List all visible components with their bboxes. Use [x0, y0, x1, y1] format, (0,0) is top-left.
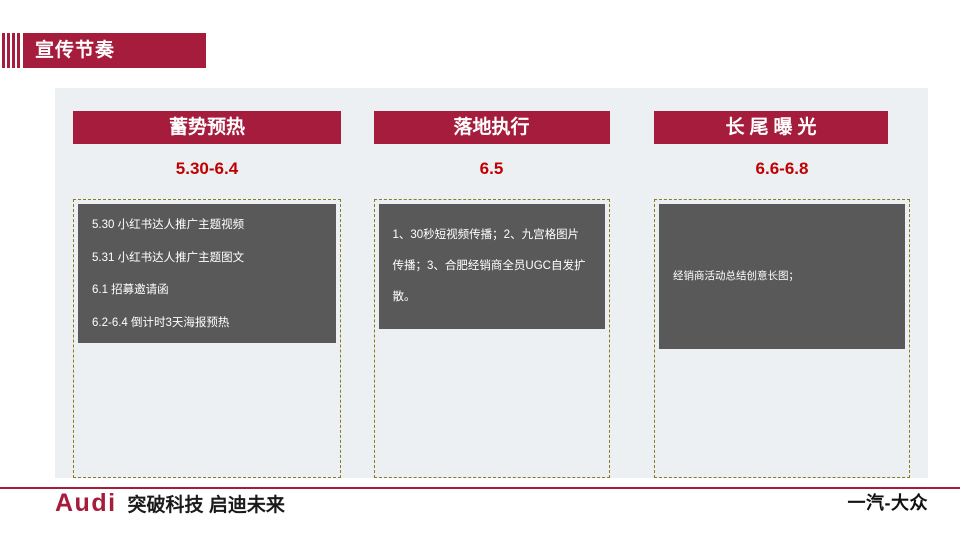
- phase-title-1: 蓄势预热: [73, 111, 341, 144]
- phase-dashed-box-3: 经销商活动总结创意长图；: [654, 199, 910, 478]
- centered-text: 经销商活动总结创意长图；: [673, 269, 799, 284]
- list-item: 6.2-6.4 倒计时3天海报预热: [92, 318, 322, 330]
- phase-column-1: 蓄势预热 5.30-6.4 5.30 小红书达人推广主题视频 5.31 小红书达…: [73, 88, 341, 478]
- phase-content-box-1: 5.30 小红书达人推广主题视频 5.31 小红书达人推广主题图文 6.1 招募…: [78, 204, 336, 343]
- slide-header: 宣传节奏: [0, 33, 206, 68]
- phase-content-box-3: 经销商活动总结创意长图；: [659, 204, 905, 349]
- header-banner: 宣传节奏: [23, 33, 206, 68]
- phase-columns: 蓄势预热 5.30-6.4 5.30 小红书达人推广主题视频 5.31 小红书达…: [55, 88, 928, 478]
- audi-wordmark: Audi: [55, 491, 117, 516]
- page-title: 宣传节奏: [35, 41, 115, 60]
- paragraph-text: 1、30秒短视频传播；2、九宫格图片传播；3、合肥经销商全员UGC自发扩散。: [393, 220, 591, 313]
- phase-column-2: 落地执行 6.5 1、30秒短视频传播；2、九宫格图片传播；3、合肥经销商全员U…: [358, 88, 626, 478]
- list-item: 6.1 招募邀请函: [92, 285, 322, 297]
- content-panel: 蓄势预热 5.30-6.4 5.30 小红书达人推广主题视频 5.31 小红书达…: [55, 88, 928, 478]
- phase-dashed-box-2: 1、30秒短视频传播；2、九宫格图片传播；3、合肥经销商全员UGC自发扩散。: [374, 199, 610, 478]
- phase-date-2: 6.5: [374, 160, 610, 177]
- audi-tagline: 突破科技 启迪未来: [128, 496, 285, 515]
- phase-column-3: 长尾曝光 6.6-6.8 经销商活动总结创意长图；: [642, 88, 910, 478]
- phase-content-box-2: 1、30秒短视频传播；2、九宫格图片传播；3、合肥经销商全员UGC自发扩散。: [379, 204, 605, 329]
- phase-date-3: 6.6-6.8: [654, 160, 910, 177]
- phase-title-3: 长尾曝光: [654, 111, 888, 144]
- phase-title-2: 落地执行: [374, 111, 610, 144]
- list-item: 5.30 小红书达人推广主题视频: [92, 220, 322, 232]
- phase-dashed-box-1: 5.30 小红书达人推广主题视频 5.31 小红书达人推广主题图文 6.1 招募…: [73, 199, 341, 478]
- phase-date-1: 5.30-6.4: [73, 160, 341, 177]
- list-item: 5.31 小红书达人推广主题图文: [92, 253, 322, 265]
- audi-lockup: Audi 突破科技 启迪未来: [55, 491, 285, 516]
- faw-volkswagen-logo: 一汽-大众: [848, 494, 929, 512]
- header-stripes-decoration: [2, 33, 20, 68]
